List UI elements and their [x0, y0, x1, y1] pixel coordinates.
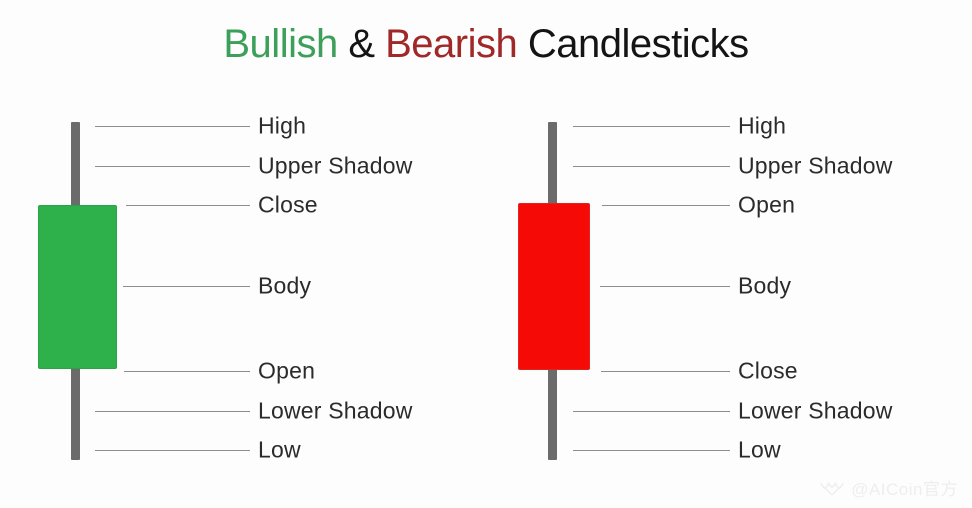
- bearish-label-open: Open: [738, 194, 795, 217]
- bearish-leader-line-low: [573, 450, 730, 451]
- bearish-label-lower-shadow: Lower Shadow: [738, 400, 893, 423]
- bearish-label-upper-shadow: Upper Shadow: [738, 155, 893, 178]
- bearish-label-low: Low: [738, 439, 781, 462]
- candlestick-diagram: HighUpper ShadowCloseBodyOpenLower Shado…: [0, 0, 972, 508]
- bearish-leader-line-high: [573, 126, 730, 127]
- bearish-leader-line-close: [601, 371, 730, 372]
- aicoin-chevron-logo-icon: [819, 479, 845, 497]
- watermark-text: @AICoin官方: [851, 475, 958, 500]
- watermark: @AICoin官方: [819, 475, 958, 500]
- bearish-label-close: Close: [738, 360, 798, 383]
- bearish-label-body: Body: [738, 275, 791, 298]
- bearish-leader-line-open: [602, 205, 730, 206]
- bearish-label-high: High: [738, 115, 786, 138]
- bearish-leader-line-upper-shadow: [573, 166, 730, 167]
- bearish-candle-panel: HighUpper ShadowOpenBodyCloseLower Shado…: [0, 0, 972, 508]
- bearish-body: [518, 203, 590, 370]
- bearish-leader-line-lower-shadow: [573, 411, 730, 412]
- bearish-leader-line-body: [600, 286, 730, 287]
